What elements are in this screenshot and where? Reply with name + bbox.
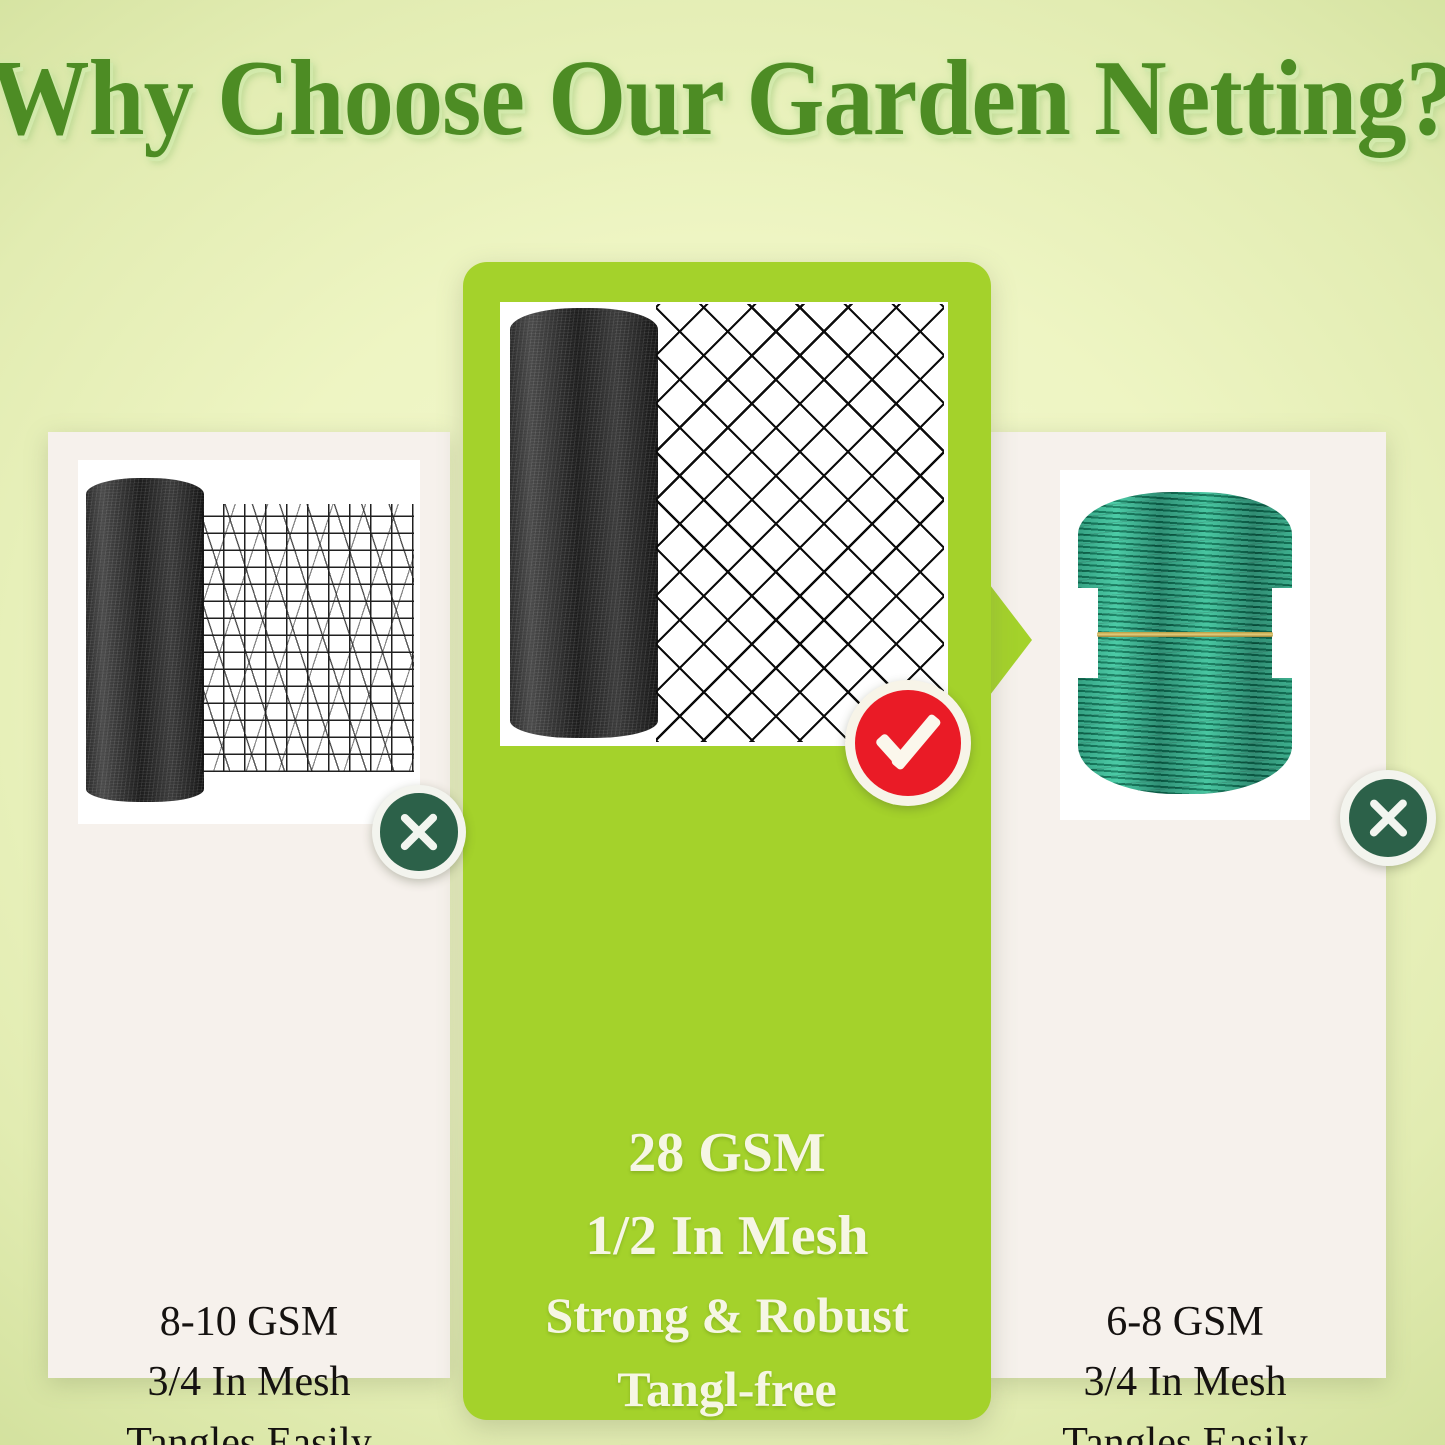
- product-image-center: [500, 302, 948, 746]
- check-icon: [855, 690, 961, 796]
- badge-cross-left: [372, 785, 466, 879]
- bundle-mask-left: [1060, 588, 1098, 678]
- feature-item: 6-8 GSM: [984, 1292, 1386, 1352]
- netting-bundle-right: [1078, 492, 1292, 794]
- feature-list-center: 28 GSM 1/2 In Mesh Strong & Robust Tangl…: [463, 1112, 991, 1445]
- cross-glyph: [395, 808, 443, 856]
- feature-item: Durable & Reusable: [463, 1426, 991, 1445]
- product-image-right: [1060, 470, 1310, 820]
- cross-icon: [1349, 779, 1428, 858]
- infographic-canvas: Why Choose Our Garden Netting? 8-10 GSM …: [0, 0, 1445, 1445]
- comparison-card-left: 8-10 GSM 3/4 In Mesh Tangles Easily Frag…: [48, 432, 450, 1378]
- netting-roll-left: [86, 478, 204, 802]
- recommendation-arrow-icon: [990, 585, 1032, 695]
- feature-list-left: 8-10 GSM 3/4 In Mesh Tangles Easily Frag…: [48, 1292, 450, 1445]
- cross-glyph: [1364, 794, 1413, 843]
- feature-item: 3/4 In Mesh: [984, 1352, 1386, 1412]
- feature-item: 3/4 In Mesh: [48, 1352, 450, 1412]
- feature-item: Tangl-free: [463, 1352, 991, 1426]
- cross-icon: [380, 793, 457, 870]
- page-title-container: Why Choose Our Garden Netting?: [0, 34, 1445, 164]
- feature-item: Strong & Robust: [463, 1278, 991, 1352]
- check-glyph: [873, 708, 943, 778]
- netting-roll-center: [510, 308, 658, 738]
- loose-mesh-left: [202, 504, 414, 772]
- feature-item: 28 GSM: [463, 1112, 991, 1195]
- badge-check-center: [845, 680, 971, 806]
- badge-cross-right: [1340, 770, 1436, 866]
- comparison-card-right: 6-8 GSM 3/4 In Mesh Tangles Easily Dispo…: [984, 432, 1386, 1378]
- feature-item: Tangles Easily: [48, 1413, 450, 1445]
- feature-item: 8-10 GSM: [48, 1292, 450, 1352]
- feature-item: Tangles Easily: [984, 1413, 1386, 1445]
- page-title: Why Choose Our Garden Netting?: [0, 45, 1445, 153]
- feature-item: 1/2 In Mesh: [463, 1195, 991, 1278]
- bundle-tie-band: [1097, 632, 1273, 637]
- product-image-left: [78, 460, 420, 824]
- diamond-mesh-center: [656, 304, 944, 742]
- bundle-mask-right: [1272, 588, 1310, 678]
- feature-list-right: 6-8 GSM 3/4 In Mesh Tangles Easily Dispo…: [984, 1292, 1386, 1445]
